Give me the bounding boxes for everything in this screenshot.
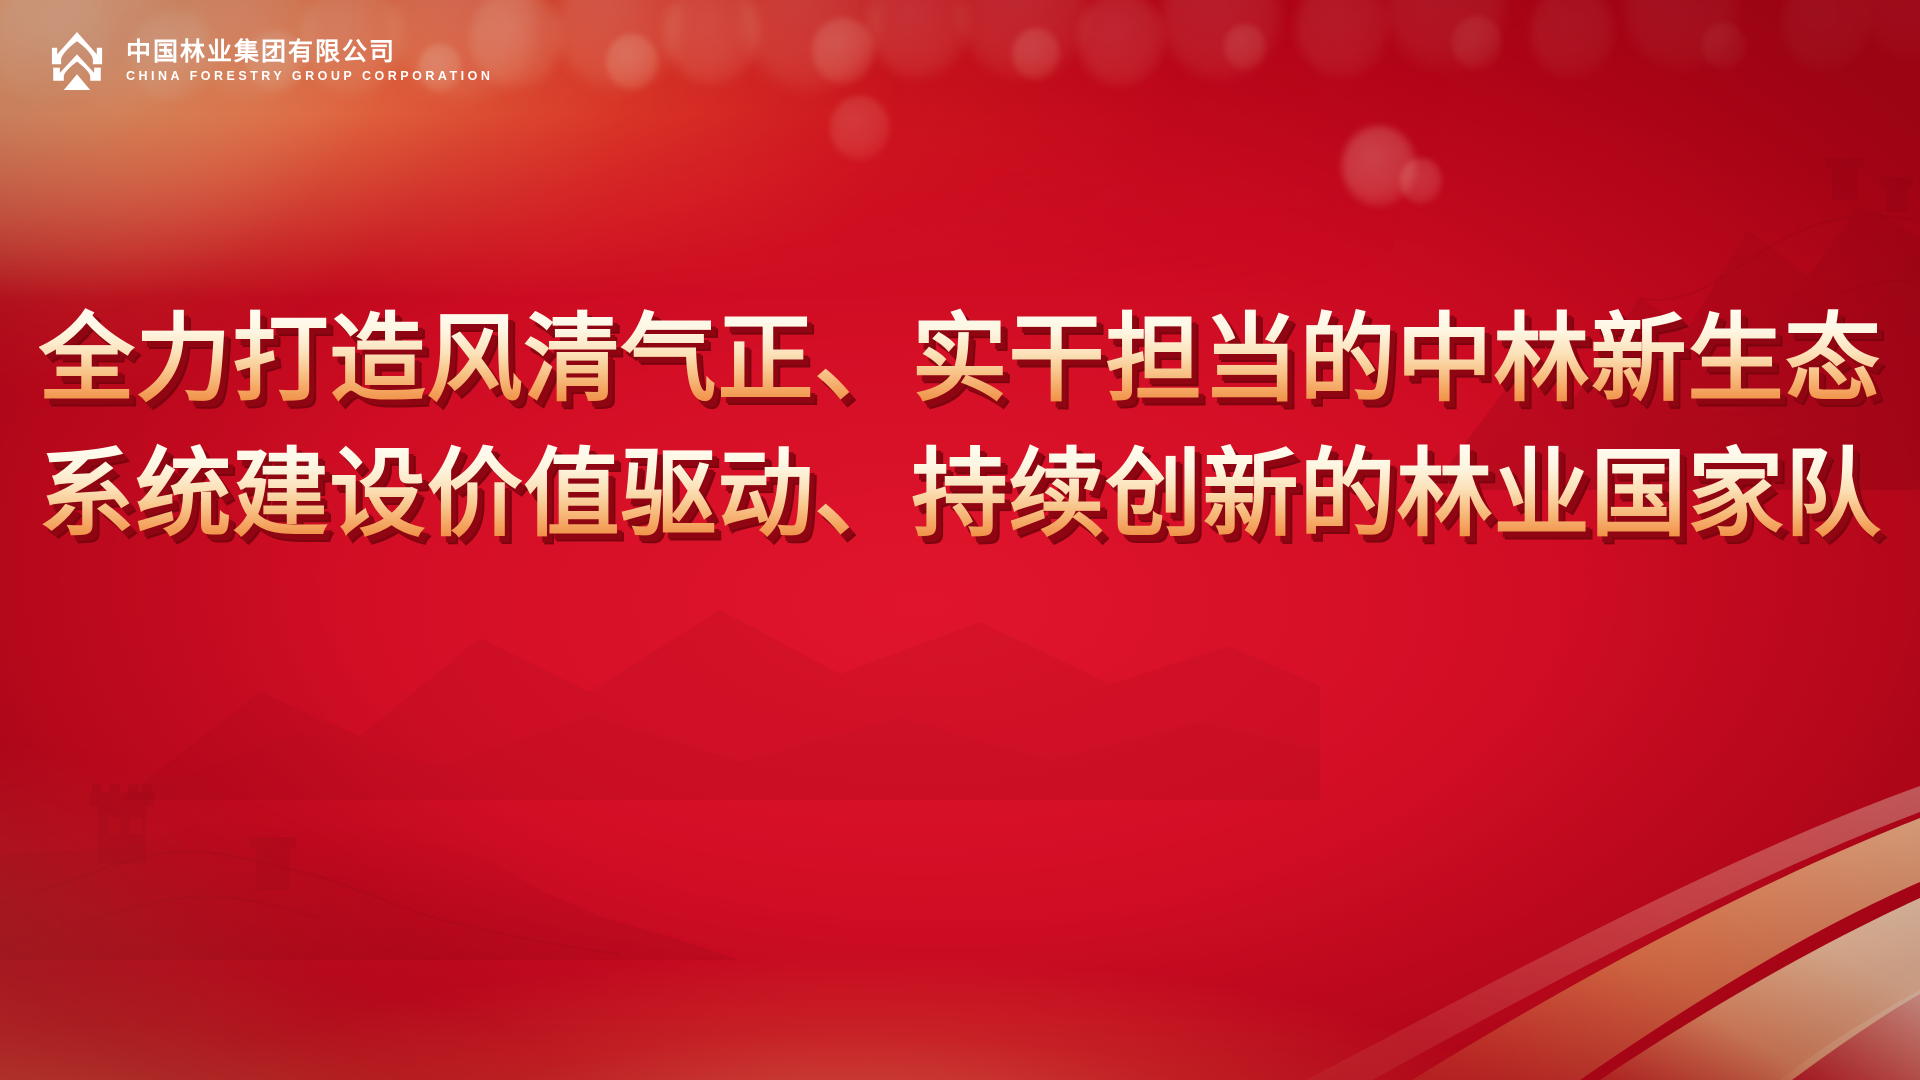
cfgc-tree-mark-icon (44, 28, 110, 94)
gold-ribbon-swoosh-icon (1020, 740, 1920, 1080)
bokeh-circle-icon (1862, 0, 1920, 60)
bokeh-circle-icon (1782, 0, 1870, 72)
headline-line-2: 系统建设价值驱动、持续创新的林业国家队 系统建设价值驱动、持续创新的林业国家队 (36, 435, 1884, 556)
bokeh-circle-icon (830, 96, 890, 160)
bokeh-circle-icon (1386, 0, 1506, 70)
bokeh-circle-icon (556, 0, 682, 90)
bokeh-circle-icon (1530, 0, 1614, 78)
bokeh-circle-icon (1162, 0, 1280, 80)
bokeh-circle-icon (958, 0, 1088, 78)
logo-lockup[interactable]: 中国林业集团有限公司 CHINA FORESTRY GROUP CORPORAT… (44, 28, 493, 94)
bokeh-circle-icon (1702, 22, 1746, 70)
bokeh-circle-icon (664, 0, 760, 84)
bokeh-circle-icon (1296, 0, 1388, 78)
headline-line-2-text: 系统建设价值驱动、持续创新的林业国家队 (39, 441, 1882, 548)
banner-poster: 中国林业集团有限公司 CHINA FORESTRY GROUP CORPORAT… (0, 0, 1920, 1080)
bokeh-circle-icon (1012, 28, 1060, 80)
headline-line-1: 全力打造风清气正、实干担当的中林新生态 全力打造风清气正、实干担当的中林新生态 (36, 300, 1884, 421)
bokeh-circle-icon (742, 0, 880, 90)
bokeh-circle-icon (812, 18, 874, 84)
headline-line-1-text: 全力打造风清气正、实干担当的中林新生态 (39, 306, 1882, 413)
logo-company-name-cn: 中国林业集团有限公司 (126, 40, 493, 65)
bokeh-circle-icon (868, 0, 968, 78)
logo-company-name-en: CHINA FORESTRY GROUP CORPORATION (126, 70, 493, 83)
bokeh-circle-icon (1224, 24, 1266, 70)
logo-wordmark: 中国林业集团有限公司 CHINA FORESTRY GROUP CORPORAT… (126, 40, 493, 83)
headline-block: 全力打造风清气正、实干担当的中林新生态 全力打造风清气正、实干担当的中林新生态 … (0, 300, 1920, 556)
bokeh-circle-icon (1452, 16, 1502, 70)
bokeh-circle-icon (1626, 0, 1738, 70)
bokeh-circle-icon (606, 34, 658, 90)
